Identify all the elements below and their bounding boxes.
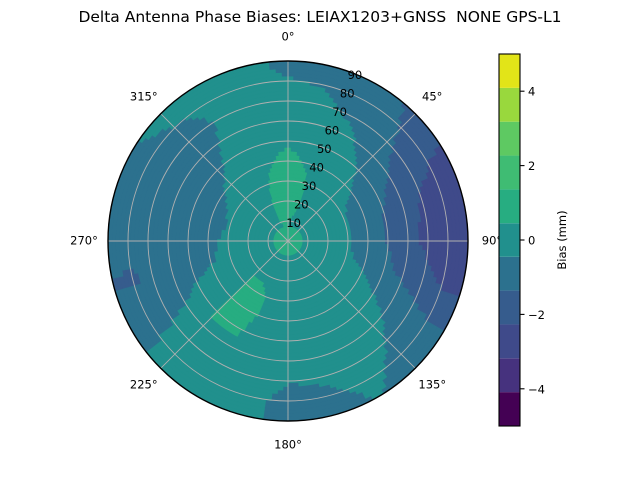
contour-cell — [288, 76, 294, 80]
radial-tick-label: 40 — [309, 161, 324, 175]
contour-cell — [282, 72, 288, 76]
colorbar-segment — [499, 88, 520, 122]
colorbar-segment — [499, 122, 520, 156]
angular-tick-label: 180° — [274, 438, 302, 452]
colorbar-segment — [499, 223, 520, 256]
polar-plot: 0°45°90°135°180°225°270°315° 10203040506… — [0, 0, 640, 480]
contour-cell — [285, 147, 288, 151]
radial-tick-label: 20 — [294, 198, 309, 212]
colorbar-segment — [499, 257, 520, 291]
colorbar-tick-label: 2 — [528, 159, 535, 173]
angular-tick-label: 225° — [130, 378, 158, 392]
colorbar-segment — [499, 324, 520, 358]
angular-tick-label: 45° — [422, 89, 442, 103]
radial-tick-label: 90 — [348, 68, 363, 82]
page-title: Delta Antenna Phase Biases: LEIAX1203+GN… — [0, 8, 640, 26]
colorbar-segment — [499, 392, 520, 426]
colorbar-segment — [499, 189, 520, 223]
colorbar-segment — [499, 156, 520, 190]
angular-tick-label: 135° — [418, 378, 446, 392]
radial-tick-label: 70 — [332, 105, 347, 119]
radial-tick-label: 30 — [302, 179, 317, 193]
colorbar-segment — [499, 54, 520, 88]
colorbar-segment — [499, 358, 520, 392]
figure-canvas: Delta Antenna Phase Biases: LEIAX1203+GN… — [0, 0, 640, 480]
angular-tick-label: 270° — [70, 234, 98, 248]
radial-tick-label: 60 — [325, 124, 340, 138]
angular-tick-label: 315° — [130, 89, 158, 103]
colorbar-tick-label: −2 — [528, 308, 545, 322]
angular-tick-label: 0° — [281, 30, 294, 44]
radial-tick-label: 50 — [317, 142, 332, 156]
colorbar-segment — [499, 291, 520, 325]
radial-tick-label: 10 — [286, 216, 301, 230]
colorbar-axis-label: Bias (mm) — [555, 210, 569, 269]
colorbar-tick-label: −4 — [528, 382, 545, 396]
colorbar-tick-label: 0 — [528, 234, 535, 248]
colorbar: −4−2024 — [499, 54, 545, 426]
radial-tick-label: 80 — [340, 87, 355, 101]
colorbar-tick-label: 4 — [528, 85, 535, 99]
polar-grid — [108, 61, 468, 421]
